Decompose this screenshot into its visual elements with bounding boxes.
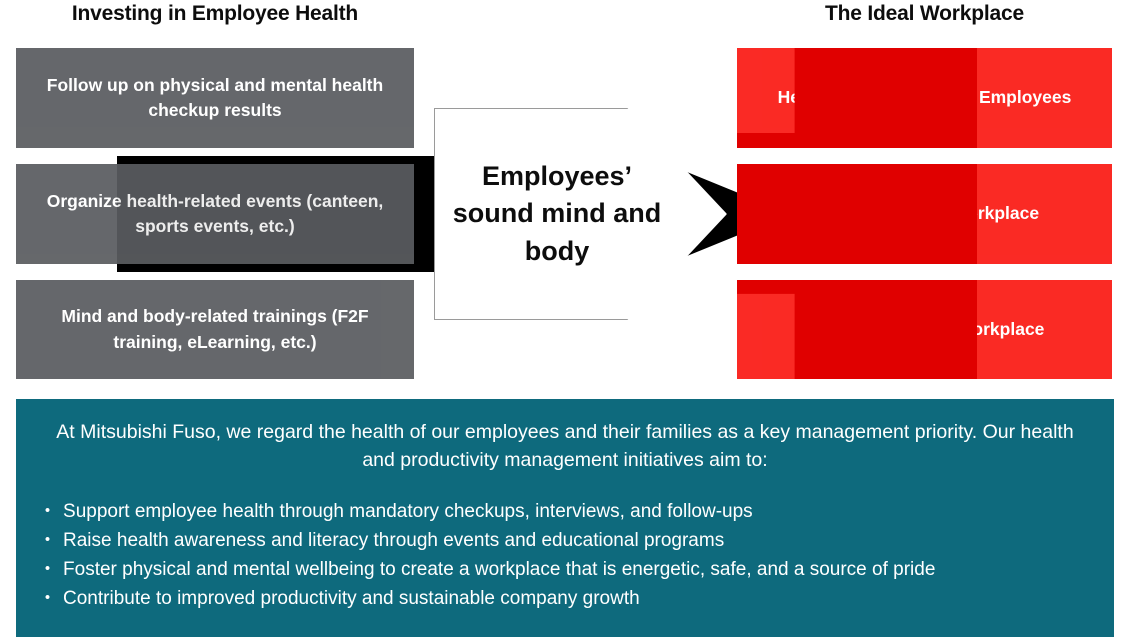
- summary-bullet-item: ・Support employee health through mandato…: [38, 498, 1092, 527]
- summary-intro-text: At Mitsubishi Fuso, we regard the health…: [38, 419, 1092, 474]
- left-initiative-box: Mind and body-related trainings (F2F tra…: [16, 280, 414, 379]
- centre-pentagon-shape: Employees’ sound mind and body: [434, 108, 727, 320]
- summary-bullet-text: Foster physical and mental wellbeing to …: [63, 559, 935, 580]
- diagram-stage: Follow up on physical and mental health …: [0, 0, 1132, 392]
- summary-panel: At Mitsubishi Fuso, we regard the health…: [16, 399, 1114, 637]
- summary-bullet-text: Contribute to improved productivity and …: [63, 588, 640, 609]
- right-outcome-box: Safe and Secure Workplace: [737, 164, 1112, 264]
- summary-bullet-text: Support employee health through mandator…: [63, 501, 753, 522]
- summary-bullet-item: ・Raise health awareness and literacy thr…: [38, 527, 1092, 556]
- left-initiative-box: Organize health-related events (canteen,…: [16, 164, 414, 264]
- bullet-mark-icon: ・: [38, 559, 57, 580]
- summary-bullet-item: ・Foster physical and mental wellbeing to…: [38, 556, 1092, 585]
- right-outcome-box: Proud and Caring Workplace: [737, 280, 1112, 379]
- bullet-mark-icon: ・: [38, 501, 57, 522]
- summary-bullet-text: Raise health awareness and literacy thro…: [63, 530, 724, 551]
- centre-pentagon-label: Employees’ sound mind and body: [435, 158, 675, 270]
- summary-bullet-item: ・Contribute to improved productivity and…: [38, 585, 1092, 614]
- left-initiative-box: Follow up on physical and mental health …: [16, 48, 414, 148]
- bullet-mark-icon: ・: [38, 530, 57, 551]
- bullet-mark-icon: ・: [38, 588, 57, 609]
- summary-bullet-list: ・Support employee health through mandato…: [38, 498, 1092, 614]
- right-outcome-box: Healthy and Passionate Employees: [737, 48, 1112, 148]
- slide-canvas: Investing in Employee Health The Ideal W…: [0, 0, 1132, 637]
